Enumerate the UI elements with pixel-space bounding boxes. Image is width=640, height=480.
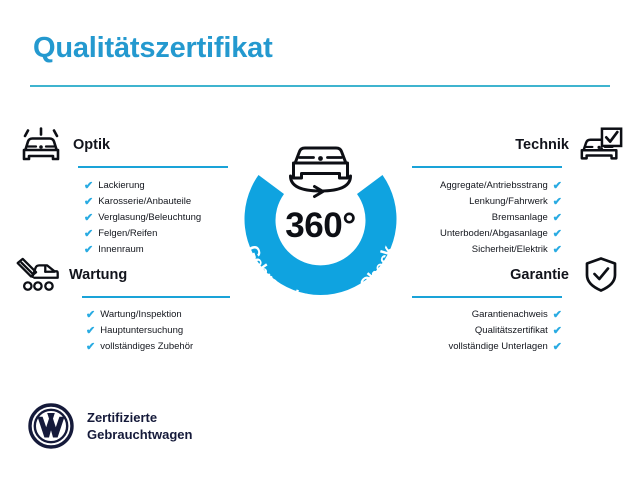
quality-certificate-page: Qualitätszertifikat Optik <box>0 0 640 480</box>
car-checkbox-icon <box>578 126 624 164</box>
list-item-label: vollständiges Zubehör <box>100 342 193 352</box>
section-wartung-list: ✔Wartung/Inspektion ✔Hauptuntersuchung ✔… <box>86 307 193 355</box>
list-item-label: Karosserie/Anbauteile <box>98 197 191 207</box>
list-item-label: Aggregate/Antriebsstrang <box>440 181 548 191</box>
check-icon: ✔ <box>553 342 562 353</box>
shiny-car-icon <box>18 126 64 164</box>
badge-360-gebrauchtwagen-check: Gebrauchtwagen-Check 360° <box>218 112 423 317</box>
list-item-label: vollständige Unterlagen <box>448 342 547 352</box>
check-icon: ✔ <box>84 197 93 208</box>
list-item: vollständige Unterlagen✔ <box>412 339 562 355</box>
check-icon: ✔ <box>553 181 562 192</box>
list-item: Bremsanlage✔ <box>412 210 562 226</box>
section-garantie-underline <box>412 296 562 298</box>
check-icon: ✔ <box>84 229 93 240</box>
list-item-label: Unterboden/Abgasanlage <box>440 229 548 239</box>
check-icon: ✔ <box>553 213 562 224</box>
list-item: Qualitätszertifikat✔ <box>412 323 562 339</box>
list-item: ✔Hauptuntersuchung <box>86 323 193 339</box>
list-item: Garantienachweis✔ <box>412 307 562 323</box>
footer-text: Zertifizierte Gebrauchtwagen <box>87 409 192 443</box>
shield-check-icon <box>578 256 624 294</box>
list-item-label: Lackierung <box>98 181 144 191</box>
list-item-label: Hauptuntersuchung <box>100 326 183 336</box>
section-optik-title: Optik <box>64 137 119 153</box>
section-technik-header: Technik <box>412 128 624 162</box>
section-technik: Technik <box>412 128 624 162</box>
list-item-label: Qualitätszertifikat <box>475 326 548 336</box>
section-garantie: Garantie <box>412 258 624 292</box>
list-item: ✔vollständiges Zubehör <box>86 339 193 355</box>
list-item-label: Innenraum <box>98 245 143 255</box>
list-item-label: Garantienachweis <box>472 310 548 320</box>
section-garantie-list: Garantienachweis✔ Qualitätszertifikat✔ v… <box>412 307 562 355</box>
section-wartung: Wartung <box>14 258 229 292</box>
check-icon: ✔ <box>553 229 562 240</box>
page-title: Qualitätszertifikat <box>33 32 273 65</box>
list-item-label: Sicherheit/Elektrik <box>472 245 548 255</box>
list-item-label: Verglasung/Beleuchtung <box>98 213 201 223</box>
list-item: ✔Felgen/Reifen <box>84 226 201 242</box>
section-optik-underline <box>78 166 228 168</box>
list-item: Aggregate/Antriebsstrang✔ <box>412 178 562 194</box>
section-optik: Optik <box>18 128 228 162</box>
list-item-label: Bremsanlage <box>492 213 548 223</box>
list-item: Unterboden/Abgasanlage✔ <box>412 226 562 242</box>
maintenance-pen-car-icon <box>14 256 60 294</box>
badge-degrees-label: 360° <box>218 206 423 246</box>
section-technik-list: Aggregate/Antriebsstrang✔ Lenkung/Fahrwe… <box>412 178 562 258</box>
check-icon: ✔ <box>86 326 95 337</box>
check-icon: ✔ <box>84 245 93 256</box>
check-icon: ✔ <box>553 197 562 208</box>
section-wartung-underline <box>82 296 230 298</box>
section-wartung-title: Wartung <box>60 267 136 283</box>
volkswagen-logo <box>28 403 74 449</box>
section-garantie-header: Garantie <box>412 258 624 292</box>
check-icon: ✔ <box>86 310 95 321</box>
check-icon: ✔ <box>553 245 562 256</box>
list-item: ✔Wartung/Inspektion <box>86 307 193 323</box>
section-optik-list: ✔Lackierung ✔Karosserie/Anbauteile ✔Verg… <box>84 178 201 258</box>
list-item: ✔Verglasung/Beleuchtung <box>84 210 201 226</box>
list-item-label: Lenkung/Fahrwerk <box>469 197 548 207</box>
check-icon: ✔ <box>84 181 93 192</box>
list-item: Lenkung/Fahrwerk✔ <box>412 194 562 210</box>
header-divider <box>30 85 610 87</box>
section-wartung-header: Wartung <box>14 258 229 292</box>
list-item: ✔Karosserie/Anbauteile <box>84 194 201 210</box>
list-item-label: Wartung/Inspektion <box>100 310 182 320</box>
list-item-label: Felgen/Reifen <box>98 229 157 239</box>
section-garantie-title: Garantie <box>501 267 578 283</box>
check-icon: ✔ <box>553 326 562 337</box>
check-icon: ✔ <box>86 342 95 353</box>
section-technik-underline <box>412 166 562 168</box>
list-item: ✔Innenraum <box>84 242 201 258</box>
section-optik-header: Optik <box>18 128 228 162</box>
footer-line-2: Gebrauchtwagen <box>87 426 192 443</box>
section-technik-title: Technik <box>506 137 578 153</box>
check-icon: ✔ <box>84 213 93 224</box>
check-icon: ✔ <box>553 310 562 321</box>
footer-line-1: Zertifizierte <box>87 409 192 426</box>
list-item: Sicherheit/Elektrik✔ <box>412 242 562 258</box>
volkswagen-lockup: Zertifizierte Gebrauchtwagen <box>28 403 192 449</box>
list-item: ✔Lackierung <box>84 178 201 194</box>
